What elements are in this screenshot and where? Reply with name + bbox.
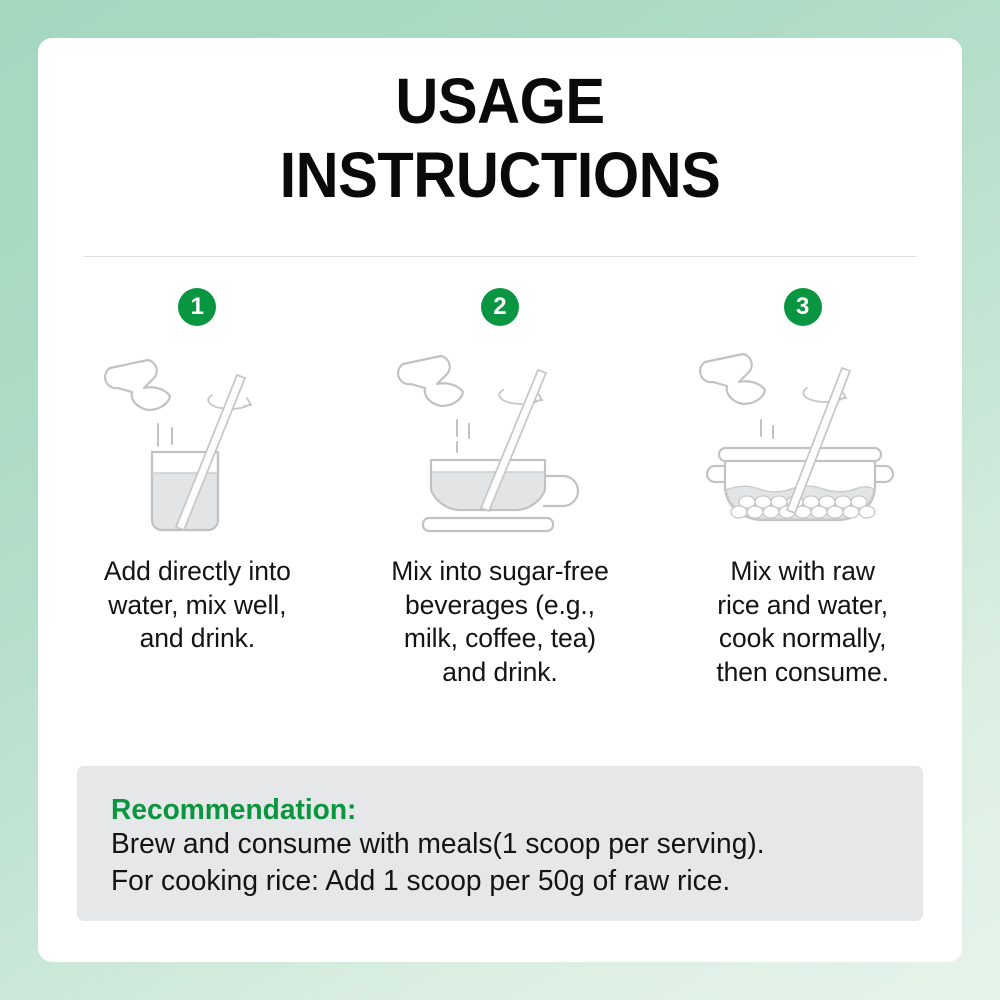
- spoon-pouring-into-cup-icon: [395, 348, 605, 533]
- step-2: 2: [349, 288, 652, 690]
- recommendation-line-1: Brew and consume with meals(1 scoop per …: [111, 826, 866, 862]
- page-title: USAGE INSTRUCTIONS: [70, 64, 929, 212]
- spoon-pouring-into-rice-pot-icon: [695, 348, 910, 533]
- step-number-badge-1: 1: [178, 288, 216, 326]
- step-1: 1: [46, 288, 349, 656]
- spoon-pouring-into-glass-icon: [102, 348, 292, 533]
- recommendation-box: Recommendation: Brew and consume with me…: [77, 766, 923, 921]
- step-caption-2: Mix into sugar-free beverages (e.g., mil…: [391, 555, 609, 690]
- step-3: 3: [651, 288, 954, 690]
- step-caption-3: Mix with raw rice and water, cook normal…: [716, 555, 889, 690]
- step-caption-1: Add directly into water, mix well, and d…: [104, 555, 291, 656]
- recommendation-line-2: For cooking rice: Add 1 scoop per 50g of…: [111, 863, 866, 899]
- step-number-badge-3: 3: [784, 288, 822, 326]
- instructions-card: USAGE INSTRUCTIONS 1: [38, 38, 962, 962]
- header-divider: [83, 256, 917, 257]
- recommendation-heading: Recommendation:: [111, 794, 866, 826]
- step-number-badge-2: 2: [481, 288, 519, 326]
- steps-row: 1: [46, 288, 954, 690]
